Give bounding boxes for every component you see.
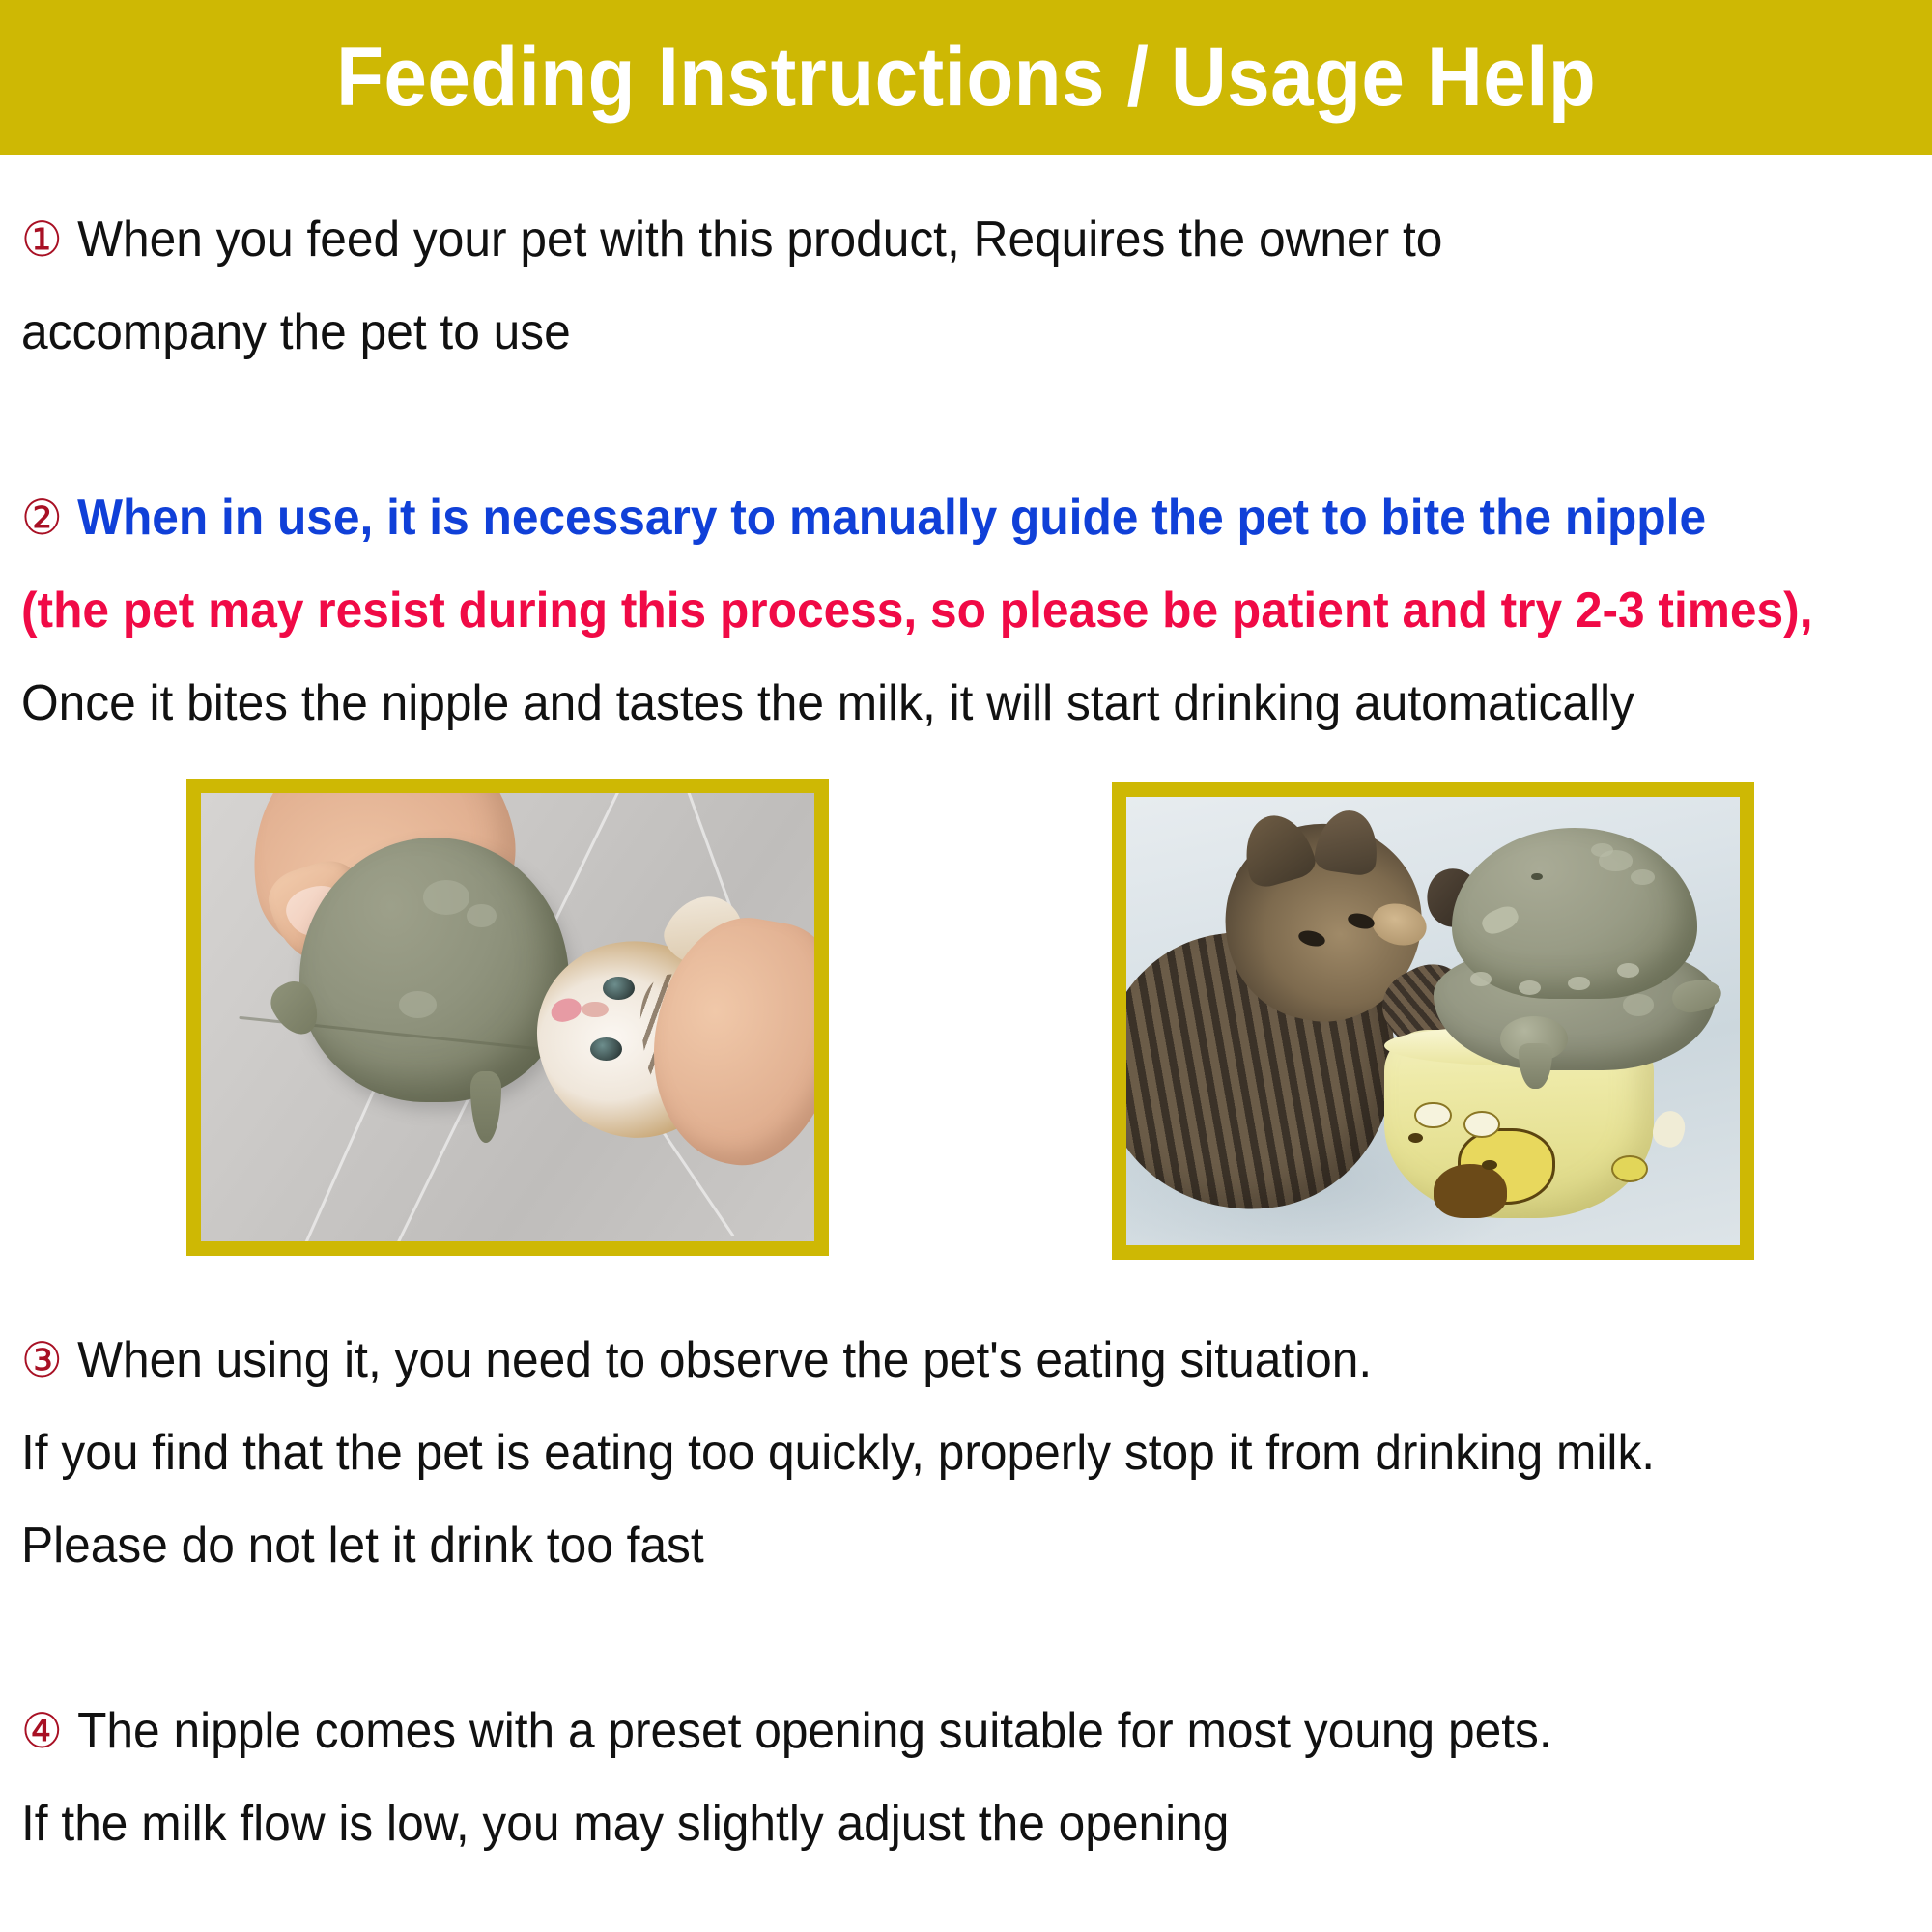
instruction-text: When you feed your pet with this product… <box>77 212 1442 268</box>
feeder-rivet <box>1470 972 1492 986</box>
list-marker-1: ① <box>21 213 63 267</box>
photo-image-area <box>1126 797 1740 1245</box>
instruction-line: ③When using it, you need to observe the … <box>21 1314 1830 1406</box>
instruction-item-1: ①When you feed your pet with this produc… <box>0 193 1932 379</box>
spacer <box>0 1592 1932 1685</box>
instruction-line-emphasis-blue: ②When in use, it is necessary to manuall… <box>21 471 1830 564</box>
instruction-line-emphasis-red: (the pet may resist during this process,… <box>21 564 1830 657</box>
page-title: Feeding Instructions / Usage Help <box>336 36 1596 119</box>
bowl-dot-art <box>1482 1160 1496 1170</box>
photo-hand-guiding-kitten <box>186 779 829 1256</box>
instruction-item-4: ④The nipple comes with a preset opening … <box>0 1685 1932 1870</box>
instruction-line: ①When you feed your pet with this produc… <box>21 193 1830 286</box>
spacer <box>0 379 1932 471</box>
photo-image-area <box>201 793 814 1241</box>
dome-bump <box>1631 869 1655 885</box>
dome-bump <box>467 904 497 928</box>
instruction-line: If you find that the pet is eating too q… <box>21 1406 1830 1499</box>
kitten-nose <box>582 1002 609 1018</box>
dome-bump <box>423 880 469 915</box>
feeder-rivet <box>1617 963 1639 978</box>
instruction-line: Once it bites the nipple and tastes the … <box>21 657 1830 750</box>
feeder-air-hole <box>1531 873 1542 880</box>
instructions-content: ①When you feed your pet with this produc… <box>0 155 1932 750</box>
instruction-line: Please do not let it drink too fast <box>21 1499 1830 1592</box>
instruction-item-2: ②When in use, it is necessary to manuall… <box>0 471 1932 750</box>
spacer <box>0 155 1932 193</box>
dome-bump <box>399 991 437 1017</box>
silicone-feeder-dome <box>299 838 569 1102</box>
photo-row <box>0 779 1932 1262</box>
list-marker-3: ③ <box>21 1333 63 1387</box>
instruction-text: When in use, it is necessary to manually… <box>77 490 1706 546</box>
instruction-line: ④The nipple comes with a preset opening … <box>21 1685 1830 1777</box>
instruction-line: If the milk flow is low, you may slightl… <box>21 1777 1830 1870</box>
kitten-eye <box>590 1037 622 1061</box>
bowl-flower-art <box>1611 1155 1648 1182</box>
instruction-line: accompany the pet to use <box>21 286 1830 379</box>
instruction-text: When using it, you need to observe the p… <box>77 1332 1372 1388</box>
instruction-item-3: ③When using it, you need to observe the … <box>0 1314 1932 1592</box>
bowl-flower-art <box>1463 1111 1500 1138</box>
list-marker-4: ④ <box>21 1704 63 1758</box>
list-marker-2: ② <box>21 491 63 545</box>
bowl-flower-art <box>1414 1102 1451 1129</box>
page-header-banner: Feeding Instructions / Usage Help <box>0 0 1932 155</box>
photo-kitten-pawing-feeder <box>1112 782 1754 1260</box>
instruction-text: The nipple comes with a preset opening s… <box>77 1703 1552 1759</box>
bowl-cartoon-art <box>1434 1164 1507 1218</box>
instructions-content-lower: ③When using it, you need to observe the … <box>0 1314 1932 1870</box>
